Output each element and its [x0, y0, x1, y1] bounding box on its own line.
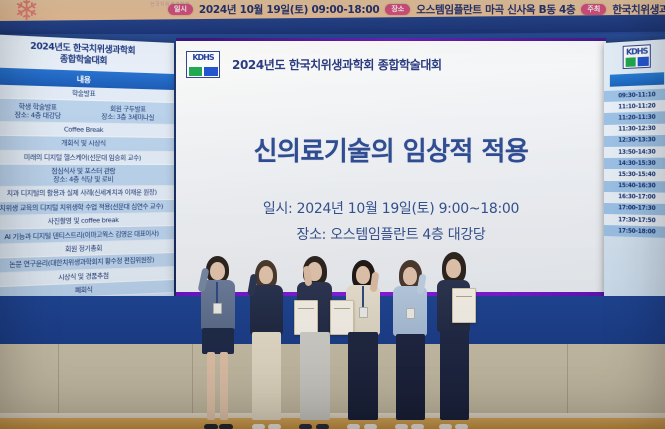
left-board-rows: 학술발표학생 학술발표장소: 4층 대강당회원 구두발표장소: 3층 3세미나실…: [0, 84, 174, 301]
left-board-row-line: 치과 디지털의 활용과 실제 사례(신세계치과 이재운 원장): [0, 188, 171, 198]
left-board-row-cell: 학생 학술발표장소: 4층 대강당: [0, 101, 84, 120]
attendee-1-left-shoe: [204, 424, 218, 429]
left-board-row-line: 장소: 4층 대강당: [0, 110, 82, 120]
attendee-1-right-shoe: [219, 424, 233, 429]
attendee-5-badge: [406, 308, 415, 319]
kdhs-logo-squares-right: [625, 56, 648, 66]
right-board-time-row: 15:40-16:30: [604, 181, 665, 193]
right-board-time-row: 14:30-15:30: [604, 158, 665, 170]
left-board-row-line: AI 기능과 디지털 덴티스트리(이마고웍스 김영은 대표이사): [0, 229, 171, 241]
banner-chip-place: 장소: [385, 4, 410, 15]
right-time-board: KDHS 09:30-11:1011:10-11:2011:20-11:3011…: [604, 39, 665, 302]
kdhs-blue-square: [204, 67, 218, 76]
attendee-2: [242, 252, 290, 429]
attendee-2-pants: [252, 332, 281, 420]
attendee-4-certificate: [330, 300, 354, 335]
attendee-3-left-shoe: [299, 424, 312, 429]
attendee-4-left-shoe: [347, 424, 360, 429]
attendee-5-right-shoe: [411, 424, 424, 429]
flower-icon: ❄: [14, 0, 48, 22]
attendee-6-certificate: [452, 288, 476, 323]
left-board-row: 학생 학술발표장소: 4층 대강당회원 구두발표장소: 3층 3세미나실: [0, 99, 174, 125]
attendee-4-badge: [359, 307, 368, 318]
slide-header-row: KDHS 2024년도 한국치위생과학회 종합학술대회: [186, 51, 442, 78]
attendee-3-pants: [300, 332, 330, 420]
banner-chip-date: 일시: [168, 4, 193, 15]
attendee-4: [338, 252, 388, 429]
right-board-header-bar: [610, 72, 664, 87]
left-board-row-line: 개회식 및 시상식: [0, 138, 171, 148]
attendee-2-right-shoe: [268, 424, 281, 429]
right-board-time-row: 13:50-14:30: [604, 146, 665, 158]
right-board-time-row: 12:30-13:30: [604, 135, 665, 147]
left-board-row-line: 점심식사 및 포스터 관람: [0, 167, 171, 176]
attendee-4-right-shoe: [364, 424, 377, 429]
slide-subtitle-place: 장소: 오스템임플란트 4층 대강당: [176, 222, 606, 248]
kdhs-logo-word: KDHS: [189, 54, 218, 62]
right-board-time-row: 17:50-18:00: [604, 225, 665, 238]
kdhs-blue-square-right: [638, 56, 649, 66]
left-board-row-line: 치위생 교육의 디지털 치위생학 수업 적용(선문대 심연수 교수): [0, 202, 171, 213]
attendee-6-head: [446, 259, 461, 278]
conference-hall-photo: ❄ 한국치위생과학회 일시 2024년 10월 19일(토) 09:00-18:…: [0, 0, 665, 429]
slide-main-title: 신의료기술의 임상적 적용: [176, 131, 606, 168]
left-program-board: 2024년도 한국치위생과학회 종합학술대회 내용 학술발표학생 학술발표장소:…: [0, 34, 174, 307]
attendee-5-pants: [396, 334, 425, 420]
kdhs-logo-icon: KDHS: [186, 51, 220, 78]
attendee-5: [386, 252, 434, 429]
right-board-time-row: 15:30-15:40: [604, 169, 665, 181]
floor-seam-left: [58, 344, 59, 420]
slide-subtitle-block: 일시: 2024년 10월 19일(토) 9:00~18:00 장소: 오스템임…: [176, 196, 606, 248]
left-board-row-line: 장소: 3층 3세미나실: [86, 112, 169, 122]
right-board-logo: KDHS: [604, 39, 665, 70]
left-board-row-line: 사진촬영 및 coffee break: [0, 215, 171, 227]
kdhs-logo-word-right: KDHS: [625, 47, 648, 56]
left-board-row-line: 학술발표: [0, 87, 171, 100]
attendee-1-skirt: [202, 328, 234, 354]
left-board-row: 점심식사 및 포스터 관람장소: 4층 식당 및 로비: [0, 164, 174, 187]
attendee-5-head: [403, 267, 417, 285]
attendee-group: [190, 252, 440, 429]
kdhs-green-square: [189, 67, 203, 76]
attendee-4-head: [356, 266, 370, 284]
attendee-4-pants: [348, 332, 378, 420]
attendee-6-pants: [440, 330, 469, 420]
attendee-6-right-shoe: [455, 424, 468, 429]
attendee-1-right-leg: [220, 352, 228, 420]
attendee-2-head: [259, 266, 273, 284]
attendee-1-left-leg: [207, 352, 215, 420]
attendee-3-right-shoe: [316, 424, 329, 429]
floor-seam-right: [567, 344, 568, 420]
kdhs-logo-squares: [189, 67, 218, 76]
attendee-1: [194, 254, 242, 429]
left-board-row-line: 미래의 디지털 헬스케어(선문대 임승희 교수): [0, 153, 171, 162]
slide-header-text: 2024년도 한국치위생과학회 종합학술대회: [232, 56, 442, 73]
left-board-row-cell: 회원 구두발표장소: 3층 3세미나실: [84, 103, 171, 121]
attendee-4-lanyard: [362, 286, 364, 308]
left-board-row: 미래의 디지털 헬스케어(선문대 임승희 교수): [0, 150, 174, 165]
left-board-row: 개회식 및 시상식: [0, 136, 174, 152]
banner-chip-host: 주최: [581, 4, 606, 15]
kdhs-logo-icon-right: KDHS: [623, 44, 651, 69]
left-board-row-line: Coffee Break: [0, 124, 171, 135]
attendee-1-head: [210, 262, 225, 280]
attendee-6-left-shoe: [439, 424, 452, 429]
right-board-time-rows: 09:30-11:1011:10-11:2011:20-11:3011:30-1…: [604, 88, 665, 238]
right-board-time-row: 11:30-12:30: [604, 123, 665, 136]
attendee-6: [432, 252, 478, 429]
attendee-3-certificate: [294, 300, 318, 335]
left-board-row-line: 장소: 4층 식당 및 로비: [0, 175, 171, 184]
attendee-1-badge: [213, 303, 222, 314]
attendee-1-lanyard: [216, 282, 218, 304]
kdhs-green-square-right: [625, 57, 635, 67]
banner-date-text: 2024년 10월 19일(토) 09:00-18:00: [199, 2, 379, 17]
attendee-2-left-shoe: [252, 424, 265, 429]
attendee-2-top: [250, 285, 283, 335]
attendee-5-left-shoe: [395, 424, 408, 429]
slide-subtitle-date: 일시: 2024년 10월 19일(토) 9:00~18:00: [176, 196, 606, 222]
attendee-3: [290, 252, 340, 429]
